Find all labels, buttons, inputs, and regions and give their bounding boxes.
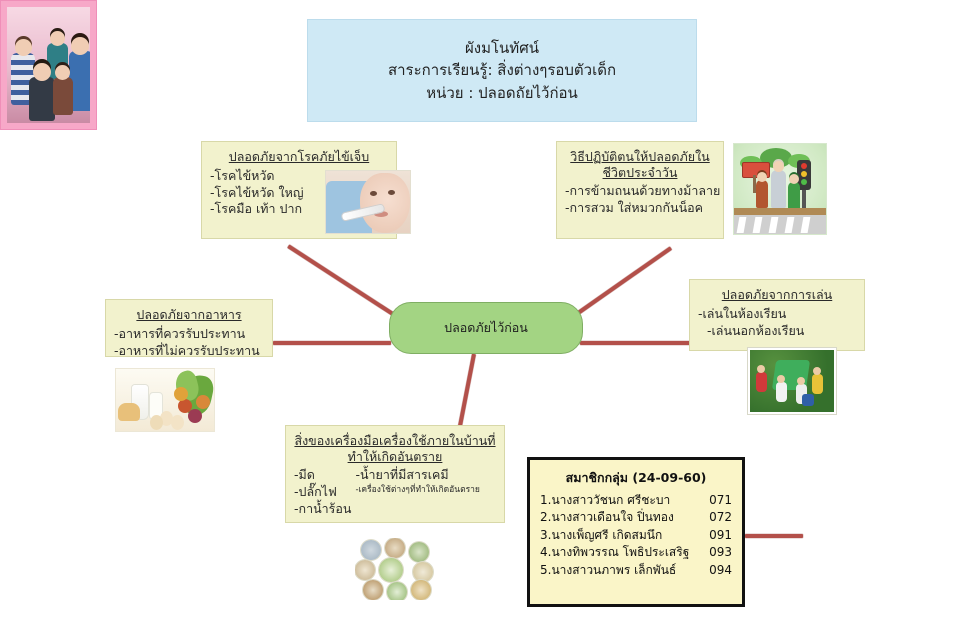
head-shape xyxy=(813,367,821,375)
red-lamp xyxy=(801,163,807,169)
branch-daily-life[interactable]: วิธีปฏิบัติตนให้ปลอดภัยใน ชีวิตประจำวัน … xyxy=(556,141,724,239)
branch-daily-header-line-2: ชีวิตประจำวัน xyxy=(603,165,678,180)
branch-play[interactable]: ปลอดภัยจากการเล่น -เล่นในห้องเรียน -เล่น… xyxy=(689,279,865,351)
list-item: -กาน้ำร้อน xyxy=(294,501,351,518)
person-head xyxy=(71,37,89,55)
children-playing-photo xyxy=(748,348,836,414)
member-name: 4.นางทิพวรรณ โพธิประเสริฐ xyxy=(540,544,705,561)
member-row: 4.นางทิพวรรณ โพธิประเสริฐ 093 xyxy=(540,544,732,561)
curb-shape xyxy=(734,208,826,215)
member-row: 5.นางสาวนภาพร เล็กพันธ์ 094 xyxy=(540,562,732,579)
sick-child-thermometer-photo xyxy=(325,170,411,234)
eye-shape xyxy=(370,191,377,196)
list-item: -อาหารที่ควรรับประทาน xyxy=(114,326,264,343)
household-item-icon xyxy=(387,582,407,600)
member-number: 093 xyxy=(705,544,732,561)
group-members-list: 1.นางสาววัชนก ศรีชะบา 071 2.นางสาวเดือนใ… xyxy=(540,492,732,579)
connector-center-to-disease xyxy=(287,244,400,319)
crosswalk-traffic-light-illustration xyxy=(733,143,827,235)
list-item: -ปลั๊กไฟ xyxy=(294,484,351,501)
household-item-icon xyxy=(355,560,375,580)
connector-center-to-daily xyxy=(570,246,672,319)
branch-daily-list: -การข้ามถนนด้วยทางม้าลาย -การสวม ใส่หมวก… xyxy=(565,183,715,217)
adult-figure xyxy=(771,170,786,208)
member-row: 2.นางสาวเดือนใจ ปิ่นทอง 072 xyxy=(540,509,732,526)
branch-tools-header-line-2: ทำให้เกิดอันตราย xyxy=(348,449,443,464)
connector-center-to-food xyxy=(273,341,391,345)
road-shape xyxy=(734,215,826,234)
head-shape xyxy=(797,377,805,385)
member-name: 5.นางสาวนภาพร เล็กพันธ์ xyxy=(540,562,705,579)
connector-members-to-group-photo xyxy=(745,534,803,538)
member-number: 071 xyxy=(705,492,732,509)
household-item-icon xyxy=(413,562,433,582)
branch-food-header: ปลอดภัยจากอาหาร xyxy=(114,307,264,323)
connector-center-to-play xyxy=(580,341,692,345)
branch-food[interactable]: ปลอดภัยจากอาหาร -อาหารที่ควรรับประทาน -อ… xyxy=(105,299,273,357)
healthy-food-photo xyxy=(115,368,215,432)
list-item: -การสวม ใส่หมวกกันน็อค xyxy=(565,200,715,217)
fruit-shape xyxy=(188,409,202,423)
green-lamp xyxy=(801,179,807,185)
person-body xyxy=(53,77,73,115)
list-item: -อาหารที่ไม่ควรรับประทาน xyxy=(114,343,264,360)
branch-tools-body: -มีด -ปลั๊กไฟ -กาน้ำร้อน -น้ำยาที่มีสารเ… xyxy=(294,467,496,518)
member-name: 2.นางสาวเดือนใจ ปิ่นทอง xyxy=(540,509,705,526)
branch-tools-list-right: -น้ำยาที่มีสารเคมี -เครื่องใช้ต่างๆที่ทำ… xyxy=(355,467,479,518)
house-icon xyxy=(379,558,403,582)
group-members-photo xyxy=(0,0,97,130)
title-line-1: ผังมโนทัศน์ xyxy=(465,37,539,60)
traffic-light-pole xyxy=(802,190,806,208)
eye-shape xyxy=(388,190,395,195)
head-shape xyxy=(777,375,785,383)
branch-household-tools[interactable]: สิ่งของเครื่องมือเครื่องใช้ภายในบ้านที่ … xyxy=(285,425,505,523)
connector-center-to-tools xyxy=(457,354,476,431)
diagram-title-box: ผังมโนทัศน์ สาระการเรียนรู้: สิ่งต่างๆรอ… xyxy=(307,19,697,122)
person-head xyxy=(50,31,65,46)
fruit-shape xyxy=(174,387,188,401)
person-body xyxy=(29,77,55,121)
person-head xyxy=(15,39,32,56)
group-members-title: สมาชิกกลุ่ม (24-09-60) xyxy=(540,468,732,488)
branch-tools-list-left: -มีด -ปลั๊กไฟ -กาน้ำร้อน xyxy=(294,467,351,518)
member-name: 3.นางเพ็ญศรี เกิดสมนึก xyxy=(540,527,705,544)
photo-inner xyxy=(7,7,90,123)
member-row: 1.นางสาววัชนก ศรีชะบา 071 xyxy=(540,492,732,509)
branch-food-list: -อาหารที่ควรรับประทาน -อาหารที่ไม่ควรรับ… xyxy=(114,326,264,360)
list-item: -น้ำยาที่มีสารเคมี xyxy=(355,467,479,484)
list-item: -เล่นในห้องเรียน xyxy=(698,306,856,323)
yellow-lamp xyxy=(801,171,807,177)
member-row: 3.นางเพ็ญศรี เกิดสมนึก 091 xyxy=(540,527,732,544)
household-item-icon xyxy=(385,538,405,558)
fruit-shape xyxy=(196,395,210,409)
child-figure xyxy=(756,372,767,392)
child-figure xyxy=(776,382,787,402)
center-node-label: ปลอดภัยไว้ก่อน xyxy=(444,318,528,338)
list-item: -มีด xyxy=(294,467,351,484)
branch-tools-header-line-1: สิ่งของเครื่องมือเครื่องใช้ภายในบ้านที่ xyxy=(294,433,495,448)
child-figure xyxy=(788,182,800,210)
branch-play-header: ปลอดภัยจากการเล่น xyxy=(698,287,856,303)
branch-play-list: -เล่นในห้องเรียน -เล่นนอกห้องเรียน xyxy=(698,306,856,340)
child-figure xyxy=(756,180,768,208)
household-item-icon xyxy=(363,580,383,600)
branch-daily-header-line-1: วิธีปฏิบัติตนให้ปลอดภัยใน xyxy=(570,149,709,164)
list-item: -เครื่องใช้ต่างๆที่ทำให้เกิดอันตราย xyxy=(355,484,479,497)
list-item: -เล่นนอกห้องเรียน xyxy=(698,323,856,340)
person-head xyxy=(33,63,51,81)
backpack-shape xyxy=(802,394,814,406)
group-members-box: สมาชิกกลุ่ม (24-09-60) 1.นางสาววัชนก ศรี… xyxy=(527,457,745,607)
member-number: 094 xyxy=(705,562,732,579)
household-item-icon xyxy=(409,542,429,562)
member-number: 072 xyxy=(705,509,732,526)
bread-shape xyxy=(118,403,140,421)
egg-shape xyxy=(171,415,184,430)
list-item: -การข้ามถนนด้วยทางม้าลาย xyxy=(565,183,715,200)
household-item-icon xyxy=(361,540,381,560)
egg-shape xyxy=(150,415,163,430)
center-node-safety-first[interactable]: ปลอดภัยไว้ก่อน xyxy=(389,302,583,354)
child-face-shape xyxy=(360,173,410,233)
head-shape xyxy=(757,365,765,373)
member-number: 091 xyxy=(705,527,732,544)
title-line-3: หน่วย : ปลอดถัยไว้ก่อน xyxy=(426,82,578,105)
person-head xyxy=(55,65,70,80)
member-name: 1.นางสาววัชนก ศรีชะบา xyxy=(540,492,705,509)
household-items-icons xyxy=(355,538,439,600)
mindmap-canvas: ผังมโนทัศน์ สาระการเรียนรู้: สิ่งต่างๆรอ… xyxy=(0,0,960,641)
branch-disease-header: ปลอดภัยจากโรคภัยไข้เจ็บ xyxy=(210,149,388,165)
title-line-2: สาระการเรียนรู้: สิ่งต่างๆรอบตัวเด็ก xyxy=(388,59,616,82)
household-item-icon xyxy=(411,580,431,600)
child-figure xyxy=(812,374,823,394)
